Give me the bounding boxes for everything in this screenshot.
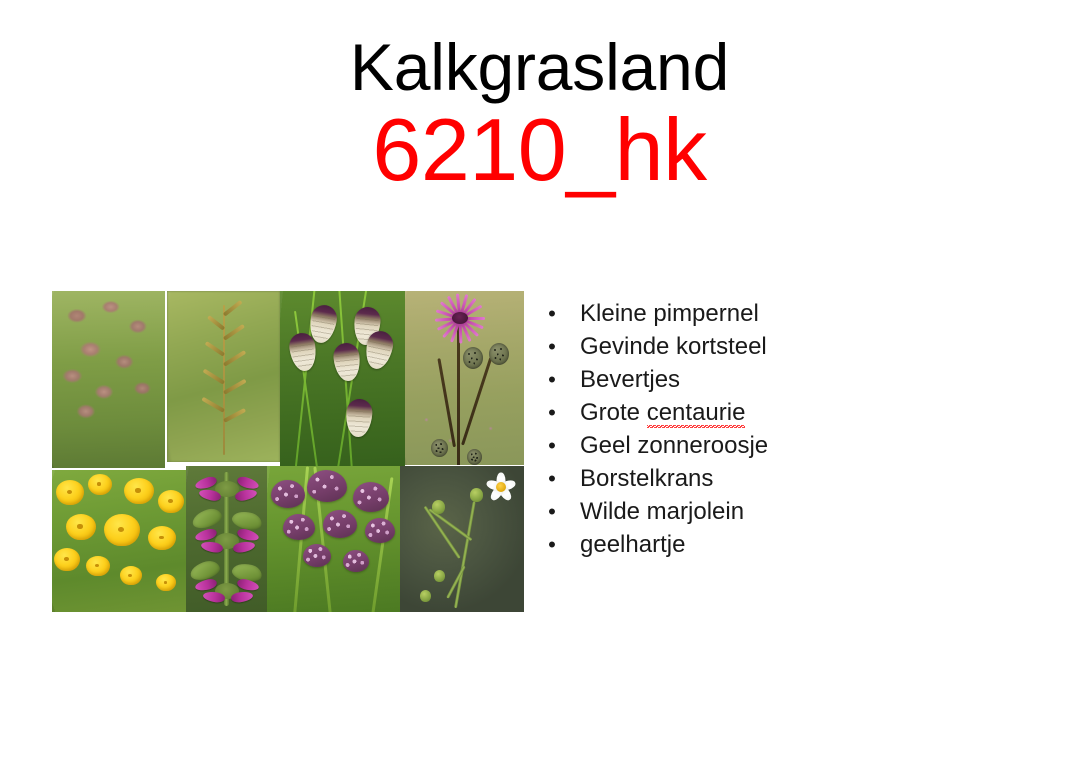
list-item: • Geel zonneroosje bbox=[540, 429, 1040, 462]
bullet-icon: • bbox=[545, 396, 559, 429]
species-name: Bevertjes bbox=[580, 363, 680, 396]
flower-whorl bbox=[195, 578, 259, 604]
yellow-flower bbox=[120, 566, 142, 585]
species-name: Borstelkrans bbox=[580, 462, 713, 495]
species-name: Kleine pimpernel bbox=[580, 297, 759, 330]
photo-gevinde-kortsteel bbox=[167, 291, 280, 462]
thistle-flower-head bbox=[433, 295, 487, 341]
page-title: Kalkgrasland bbox=[0, 28, 1079, 106]
oregano-cluster bbox=[271, 480, 305, 508]
thistle-bud bbox=[467, 449, 482, 465]
oregano-cluster bbox=[307, 470, 347, 502]
oregano-cluster bbox=[283, 514, 315, 540]
bullet-icon: • bbox=[545, 330, 559, 363]
list-item: • Bevertjes bbox=[540, 363, 1040, 396]
photo-borstelkrans bbox=[186, 466, 267, 612]
list-item: • Gevinde kortsteel bbox=[540, 330, 1040, 363]
thistle-bud bbox=[463, 347, 483, 369]
yellow-flower bbox=[54, 548, 80, 571]
flower-bud bbox=[434, 570, 445, 582]
list-item: • Grote centaurie bbox=[540, 396, 1040, 429]
oregano-cluster bbox=[353, 482, 389, 512]
yellow-flower bbox=[86, 556, 110, 576]
white-flower bbox=[484, 470, 518, 504]
photo-kleine-pimpernel bbox=[52, 291, 165, 468]
species-name: Wilde marjolein bbox=[580, 495, 744, 528]
photo-bevertjes bbox=[280, 291, 405, 470]
thistle-bud bbox=[431, 439, 448, 457]
bullet-icon: • bbox=[545, 429, 559, 462]
photo-wilde-marjolein bbox=[267, 466, 400, 612]
yellow-flower bbox=[158, 490, 184, 513]
list-item: • geelhartje bbox=[540, 528, 1040, 561]
bullet-icon: • bbox=[545, 495, 559, 528]
list-item: • Kleine pimpernel bbox=[540, 297, 1040, 330]
yellow-flower bbox=[104, 514, 140, 546]
species-name: Gevinde kortsteel bbox=[580, 330, 767, 363]
flower-bud bbox=[420, 590, 431, 602]
yellow-flower bbox=[56, 480, 84, 505]
yellow-flower bbox=[66, 514, 96, 540]
flower-bud bbox=[470, 488, 483, 502]
photo-collage bbox=[52, 291, 524, 612]
oregano-cluster bbox=[365, 518, 395, 543]
yellow-flower bbox=[124, 478, 154, 504]
photo-scene bbox=[52, 291, 165, 468]
flower-whorl bbox=[195, 528, 259, 554]
flower-whorl bbox=[195, 476, 259, 502]
spellcheck-underlined-word: centaurie bbox=[647, 399, 746, 429]
photo-geel-zonneroosje bbox=[52, 470, 186, 612]
yellow-flower bbox=[148, 526, 176, 550]
species-name: geelhartje bbox=[580, 528, 685, 561]
oregano-cluster bbox=[323, 510, 357, 538]
photo-grote-centaurie bbox=[405, 291, 524, 465]
photo-geelhartje bbox=[400, 466, 524, 612]
oregano-cluster bbox=[303, 544, 331, 567]
bullet-icon: • bbox=[545, 528, 559, 561]
oregano-cluster bbox=[343, 550, 369, 572]
bullet-icon: • bbox=[545, 363, 559, 396]
bullet-icon: • bbox=[545, 297, 559, 330]
flower-bud bbox=[432, 500, 445, 514]
bullet-icon: • bbox=[545, 462, 559, 495]
yellow-flower bbox=[88, 474, 112, 495]
species-name: Geel zonneroosje bbox=[580, 429, 768, 462]
thistle-bud bbox=[489, 343, 509, 365]
list-item: • Borstelkrans bbox=[540, 462, 1040, 495]
yellow-flower bbox=[156, 574, 176, 591]
habitat-code-subtitle: 6210_hk bbox=[0, 102, 1079, 198]
title-block: Kalkgrasland 6210_hk bbox=[0, 28, 1079, 198]
species-name: Grote centaurie bbox=[580, 396, 745, 429]
slide-canvas: Kalkgrasland 6210_hk bbox=[0, 0, 1079, 762]
thistle-stem bbox=[457, 325, 460, 465]
species-list: • Kleine pimpernel • Gevinde kortsteel •… bbox=[540, 297, 1040, 561]
list-item: • Wilde marjolein bbox=[540, 495, 1040, 528]
